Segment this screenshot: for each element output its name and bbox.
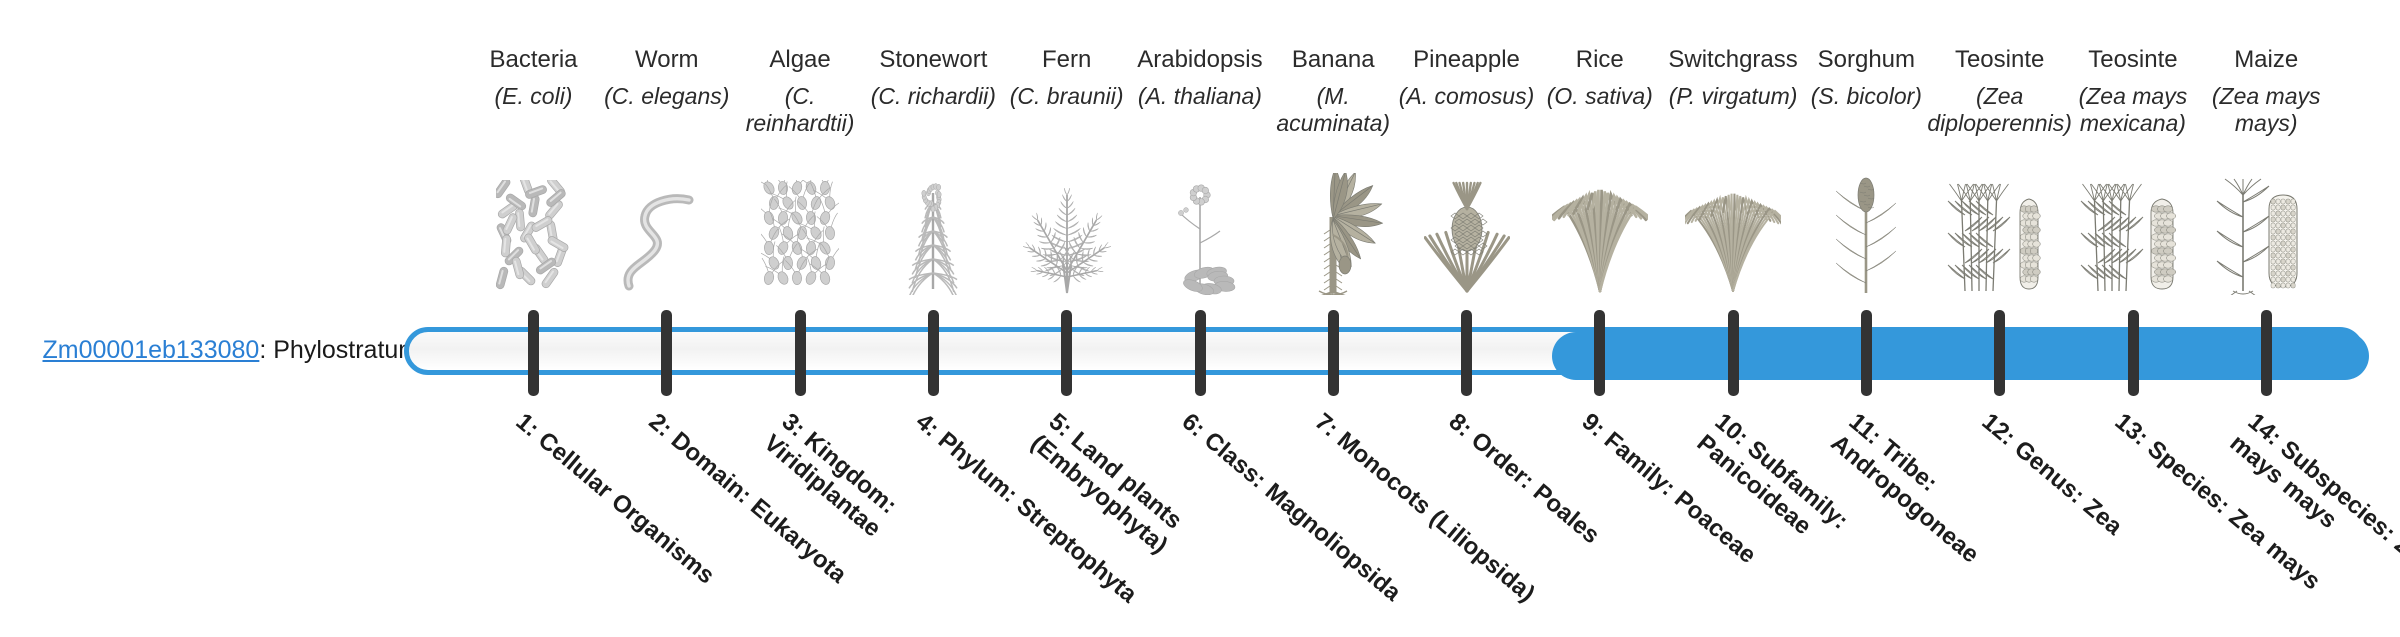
stratum-name: Genus: Zea [2009,435,2127,540]
gene-phylostratum-label: Zm00001eb133080: Phylostratum 9 [40,335,440,365]
stratum-number: 9: [1577,408,1611,442]
gene-label-separator: : [259,336,273,364]
stratum-number: 4: [910,408,944,442]
stratum-label: 1: Cellular Organisms [510,408,750,616]
stratum-number: 12: [1976,408,2020,451]
stratum-label: 8: Order: Poales [1443,408,1683,616]
phylostratum-figure: Zm00001eb133080: Phylostratum 9 Bacteria… [0,0,2400,580]
gene-id-link[interactable]: Zm00001eb133080 [42,336,259,364]
stratum-number: 1: [510,408,544,442]
stratum-label: 7: Monocots (Liliopsida) [1309,408,1549,616]
stratum-number: 8: [1443,408,1477,442]
stratum-label-group: 1: Cellular Organisms2: Domain: Eukaryot… [467,0,2333,580]
stratum-number: 13: [2110,408,2154,451]
stratum-name: Subspecies: Zea mays mays [2225,429,2400,578]
stratum-number: 6: [1177,408,1211,442]
stratum-name: Order: Poales [1466,427,1605,550]
stratum-number: 2: [644,408,678,442]
